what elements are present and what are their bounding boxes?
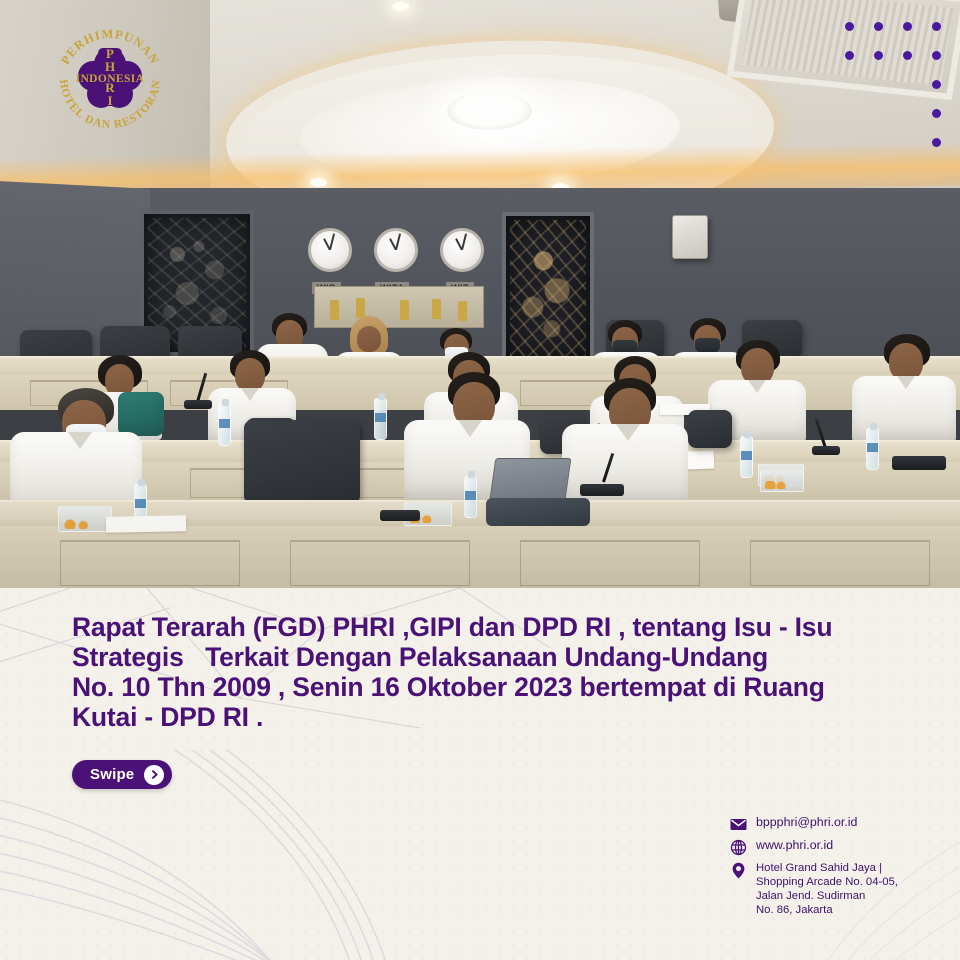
page-title: Rapat Terarah (FGD) PHRI ,GIPI dan DPD R… — [72, 612, 902, 732]
trophy — [330, 300, 339, 320]
svg-text:H: H — [105, 59, 115, 74]
trophy — [356, 298, 365, 318]
contact-website-row[interactable]: www.phri.or.id — [730, 838, 955, 856]
dot-row — [845, 22, 960, 31]
dot-row — [845, 51, 960, 60]
dot — [874, 51, 883, 60]
trophy — [400, 300, 409, 320]
water-bottle — [374, 398, 387, 440]
dot — [932, 22, 941, 31]
dot-row — [845, 80, 960, 89]
address-line-3: Jalan Jend. Sudirman — [756, 890, 865, 902]
dot — [932, 51, 941, 60]
wall-clock-wit — [440, 228, 484, 272]
microphone-base — [580, 484, 624, 496]
title-line-1: Rapat Terarah (FGD) PHRI ,GIPI dan DPD R… — [72, 612, 902, 642]
contact-address-row: Hotel Grand Sahid Jaya | Shopping Arcade… — [730, 861, 955, 917]
wall-clock-wita — [374, 228, 418, 272]
microphone-base — [812, 446, 840, 455]
water-bottle — [464, 476, 477, 518]
dot — [874, 22, 883, 31]
snack-box — [760, 470, 804, 492]
downlight — [310, 178, 327, 187]
dot — [932, 109, 941, 118]
dot — [903, 22, 912, 31]
microphone-base — [380, 510, 420, 521]
dot-empty — [903, 138, 912, 147]
title-line-4: Kutai - DPD RI . — [72, 702, 902, 732]
dot-empty — [874, 80, 883, 89]
phri-logo: PERHIMPUNAN HOTEL DAN RESTORAN P H R I I… — [46, 14, 174, 142]
address-line-1: Hotel Grand Sahid Jaya | — [756, 862, 882, 874]
contact-website: www.phri.or.id — [756, 838, 833, 853]
dot-empty — [903, 109, 912, 118]
swirl-decoration-left — [0, 750, 400, 960]
svg-text:INDONESIA: INDONESIA — [76, 73, 145, 85]
chevron-right-icon — [144, 765, 164, 785]
desk-panel — [60, 540, 240, 586]
decorative-dot-grid — [845, 22, 960, 167]
dot — [845, 22, 854, 31]
downlight — [392, 2, 409, 11]
chair-front-center — [244, 420, 360, 504]
dot-empty — [845, 80, 854, 89]
water-bottle — [218, 404, 231, 446]
laptop-sleeve — [486, 498, 590, 526]
email-icon — [730, 816, 747, 833]
address-line-4: No. 86, Jakarta — [756, 904, 833, 916]
chair — [688, 410, 732, 448]
water-bottle — [866, 428, 879, 470]
wall-speaker — [672, 215, 708, 259]
swipe-button[interactable]: Swipe — [72, 760, 172, 789]
contact-address: Hotel Grand Sahid Jaya | Shopping Arcade… — [756, 861, 898, 917]
document-papers — [106, 515, 186, 532]
trophy — [432, 299, 441, 319]
dot-empty — [845, 109, 854, 118]
dot-row — [845, 109, 960, 118]
dot — [845, 51, 854, 60]
title-line-2: Strategis Terkait Dengan Pelaksanaan Und… — [72, 642, 902, 672]
ceiling-light-fixture — [447, 92, 532, 130]
snack-box — [58, 506, 112, 532]
dot-row — [845, 138, 960, 147]
wall-clock-wib — [308, 228, 352, 272]
poster-canvas: WIB WITA WIT — [0, 0, 960, 960]
dot — [903, 51, 912, 60]
svg-text:I: I — [107, 93, 112, 108]
dot-empty — [874, 109, 883, 118]
trophy — [458, 301, 467, 321]
dot-empty — [874, 138, 883, 147]
contact-email-row[interactable]: bppphri@phri.or.id — [730, 815, 955, 833]
water-bottle — [740, 436, 753, 478]
address-line-2: Shopping Arcade No. 04-05, — [756, 876, 898, 888]
microphone-base — [892, 456, 946, 470]
contact-email: bppphri@phri.or.id — [756, 815, 857, 830]
dot — [932, 138, 941, 147]
dot — [932, 80, 941, 89]
desk-panel — [290, 540, 470, 586]
location-pin-icon — [730, 862, 747, 879]
dot-empty — [903, 80, 912, 89]
desk-panel — [520, 540, 700, 586]
carved-wall-panel-right — [502, 212, 594, 364]
microphone-base — [184, 400, 212, 409]
swipe-button-label: Swipe — [90, 766, 134, 783]
title-line-3: No. 10 Thn 2009 , Senin 16 Oktober 2023 … — [72, 672, 902, 702]
desk-panel — [750, 540, 930, 586]
dot-empty — [845, 138, 854, 147]
globe-icon — [730, 839, 747, 856]
contact-block: bppphri@phri.or.id www.phri.or.id Hotel — [730, 815, 955, 922]
